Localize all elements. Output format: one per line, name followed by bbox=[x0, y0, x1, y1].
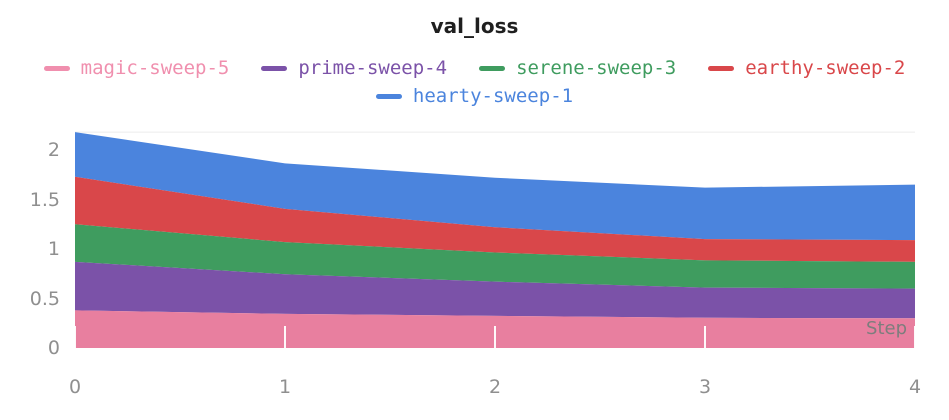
legend-label-hearty-sweep-1: hearty-sweep-1 bbox=[413, 85, 573, 107]
legend-swatch-serene-sweep-3 bbox=[479, 66, 505, 71]
x-tick-label: 0 bbox=[15, 376, 135, 398]
x-tick-label: 2 bbox=[435, 376, 555, 398]
legend-swatch-prime-sweep-4 bbox=[261, 66, 287, 71]
legend-label-earthy-sweep-2: earthy-sweep-2 bbox=[745, 57, 905, 79]
x-tick-mark bbox=[914, 326, 916, 356]
x-axis-title: Step bbox=[866, 318, 907, 339]
x-tick-mark bbox=[284, 326, 286, 356]
area-earthy-sweep-2 bbox=[75, 177, 915, 262]
y-tick-label: 0 bbox=[0, 337, 60, 359]
area-hearty-sweep-1 bbox=[75, 132, 915, 240]
y-tick-label: 1 bbox=[0, 238, 60, 260]
legend-item-hearty-sweep-1[interactable]: hearty-sweep-1 bbox=[376, 82, 573, 110]
chart-container: val_loss magic-sweep-5 prime-sweep-4 ser… bbox=[0, 0, 949, 420]
x-tick-mark bbox=[494, 326, 496, 356]
legend-row-2: hearty-sweep-1 bbox=[0, 82, 949, 110]
x-tick-label: 4 bbox=[855, 376, 949, 398]
legend-swatch-magic-sweep-5 bbox=[44, 66, 70, 71]
legend-item-earthy-sweep-2[interactable]: earthy-sweep-2 bbox=[708, 54, 905, 82]
x-tick-mark bbox=[74, 326, 76, 356]
chart-legend: magic-sweep-5 prime-sweep-4 serene-sweep… bbox=[0, 54, 949, 110]
legend-label-serene-sweep-3: serene-sweep-3 bbox=[516, 57, 676, 79]
legend-item-prime-sweep-4[interactable]: prime-sweep-4 bbox=[261, 54, 447, 82]
x-tick-label: 3 bbox=[645, 376, 765, 398]
area-serene-sweep-3 bbox=[75, 224, 915, 288]
legend-swatch-earthy-sweep-2 bbox=[708, 66, 734, 71]
y-tick-label: 2 bbox=[0, 139, 60, 161]
chart-title: val_loss bbox=[0, 14, 949, 38]
y-tick-label: 1.5 bbox=[0, 189, 60, 211]
x-tick-label: 1 bbox=[225, 376, 345, 398]
legend-label-magic-sweep-5: magic-sweep-5 bbox=[81, 57, 230, 79]
legend-item-serene-sweep-3[interactable]: serene-sweep-3 bbox=[479, 54, 676, 82]
x-tick-mark bbox=[704, 326, 706, 356]
legend-item-magic-sweep-5[interactable]: magic-sweep-5 bbox=[44, 54, 230, 82]
legend-label-prime-sweep-4: prime-sweep-4 bbox=[298, 57, 447, 79]
y-tick-label: 0.5 bbox=[0, 288, 60, 310]
area-prime-sweep-4 bbox=[75, 262, 915, 318]
legend-swatch-hearty-sweep-1 bbox=[376, 94, 402, 99]
legend-row-1: magic-sweep-5 prime-sweep-4 serene-sweep… bbox=[0, 54, 949, 82]
